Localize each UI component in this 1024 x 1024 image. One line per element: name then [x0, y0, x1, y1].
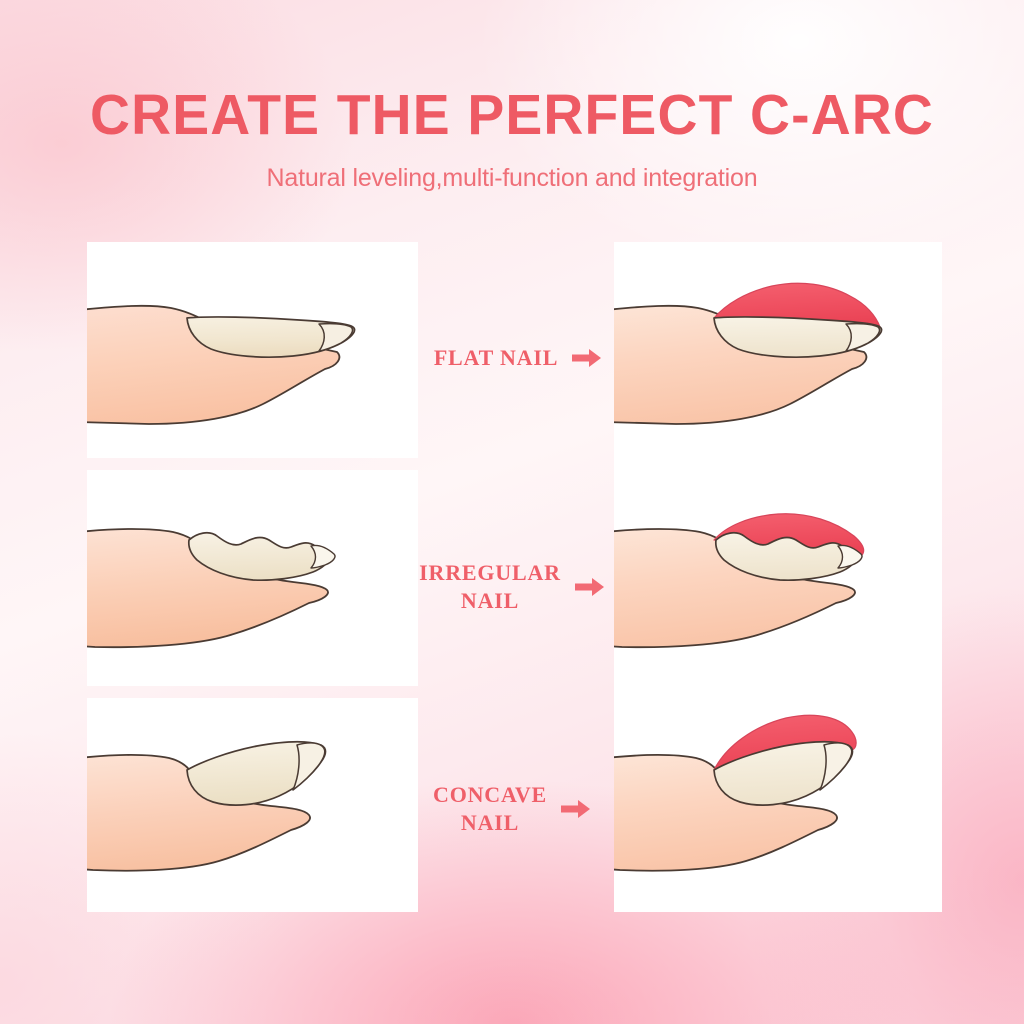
label-line-2: NAIL — [461, 810, 519, 835]
label-irregular-nail-text: IRREGULAR NAIL — [419, 559, 561, 615]
label-flat-nail: FLAT NAIL — [418, 336, 618, 380]
panel-after-column — [614, 242, 942, 912]
irregular-nail-after-illustration — [614, 514, 864, 647]
nail-free-edge — [846, 324, 880, 351]
arrow-right-icon — [561, 799, 591, 819]
label-concave-nail-text: CONCAVE NAIL — [433, 781, 547, 837]
concave-nail-after-illustration — [614, 715, 856, 870]
nail-free-edge — [319, 324, 353, 351]
page-subtitle: Natural leveling,multi-function and inte… — [0, 146, 1024, 193]
label-line-2: NAIL — [461, 588, 519, 613]
header: CREATE THE PERFECT C-ARC Natural levelin… — [0, 0, 1024, 193]
label-flat-nail-text: FLAT NAIL — [434, 344, 558, 372]
poster-canvas: CREATE THE PERFECT C-ARC Natural levelin… — [0, 0, 1024, 1024]
label-irregular-nail: IRREGULAR NAIL — [412, 554, 612, 620]
page-title: CREATE THE PERFECT C-ARC — [15, 0, 1008, 146]
after-illustrations — [614, 242, 942, 912]
irregular-nail-before-illustration — [87, 470, 418, 686]
label-concave-nail: CONCAVE NAIL — [412, 776, 612, 842]
label-line-1: CONCAVE — [433, 782, 547, 807]
arrow-right-icon — [572, 348, 602, 368]
label-line-1: IRREGULAR — [419, 560, 561, 585]
panel-flat-before — [87, 242, 418, 458]
arrow-right-icon — [575, 577, 605, 597]
panel-irregular-before — [87, 470, 418, 686]
flat-nail-before-illustration — [87, 242, 418, 458]
flat-nail-after-illustration — [614, 283, 882, 424]
panel-concave-before — [87, 698, 418, 912]
concave-nail-before-illustration — [87, 698, 418, 912]
